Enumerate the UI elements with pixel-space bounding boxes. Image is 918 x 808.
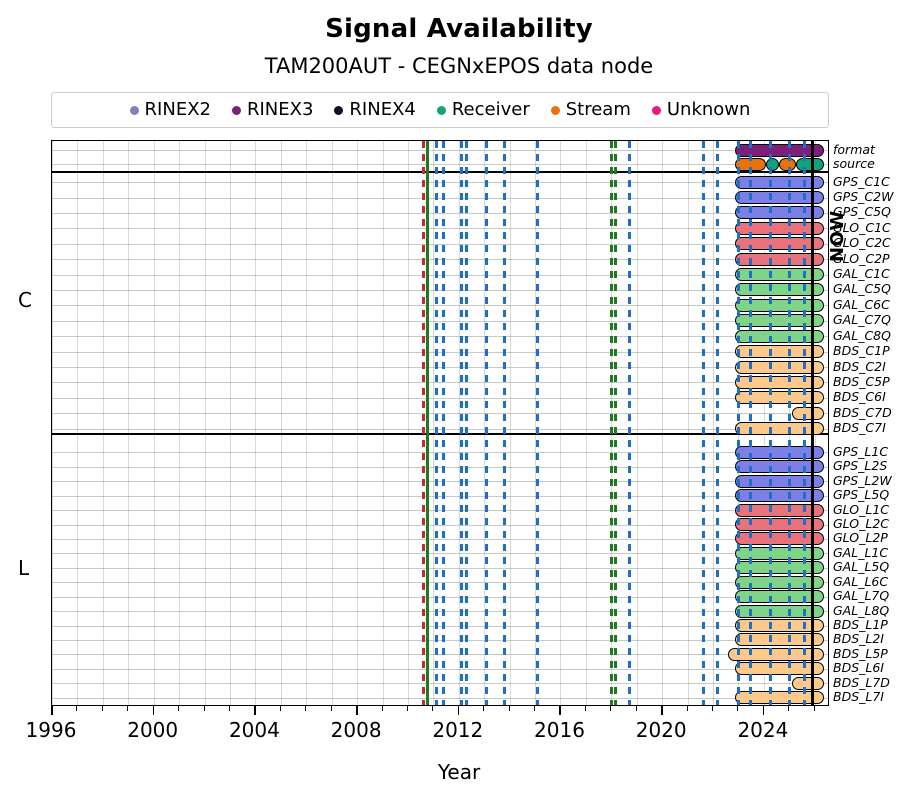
gridline-horizontal xyxy=(52,336,828,337)
now-label: NOW xyxy=(827,210,848,262)
signal-bar-BDS_L7D[interactable] xyxy=(792,677,824,690)
x-tick-label: 2016 xyxy=(534,718,585,742)
gridline-vertical xyxy=(306,141,307,705)
gridline-horizontal xyxy=(52,413,828,414)
event-line xyxy=(614,141,617,705)
legend-label: Unknown xyxy=(667,101,751,119)
legend-item-rinex4[interactable]: RINEX4 xyxy=(334,101,415,119)
gridline-horizontal xyxy=(52,382,828,383)
x-tick-minor xyxy=(178,706,179,711)
legend-marker-icon xyxy=(652,106,661,115)
row-label-source: source xyxy=(833,156,875,171)
x-tick-minor xyxy=(814,706,815,711)
event-line xyxy=(422,141,425,705)
x-tick-minor xyxy=(305,706,306,711)
legend-marker-icon xyxy=(334,106,343,115)
row-label-BDS_C7D: BDS_C7D xyxy=(833,405,892,420)
gridline-horizontal xyxy=(52,367,828,368)
row-label-BDS_L2I: BDS_L2I xyxy=(833,631,884,646)
gridline-vertical xyxy=(560,141,561,705)
x-tick-minor xyxy=(585,706,586,711)
row-label-BDS_C2I: BDS_C2I xyxy=(833,359,886,374)
event-line xyxy=(442,141,445,705)
group-label-C: C xyxy=(18,288,32,312)
gridline-vertical xyxy=(128,141,129,705)
event-line xyxy=(716,141,719,705)
row-label-GAL_L8Q: GAL_L8Q xyxy=(833,603,889,618)
row-label-BDS_C5P: BDS_C5P xyxy=(833,374,890,389)
gridline-vertical xyxy=(332,141,333,705)
gridline-vertical xyxy=(255,141,256,705)
gridline-vertical xyxy=(433,141,434,705)
x-axis-title: Year xyxy=(0,760,918,784)
row-label-GLO_L2C: GLO_L2C xyxy=(833,516,889,531)
x-tick-minor xyxy=(534,706,535,711)
gridline-horizontal xyxy=(52,259,828,260)
gridline-vertical xyxy=(688,141,689,705)
x-tick-minor xyxy=(204,706,205,711)
group-separator xyxy=(52,171,828,173)
timeline-plot-area[interactable] xyxy=(51,140,829,706)
event-line xyxy=(426,141,429,705)
gridline-horizontal xyxy=(52,640,828,641)
event-line xyxy=(485,141,488,705)
page-subtitle: TAM200AUT - CEGNxEPOS data node xyxy=(0,54,918,78)
gridline-vertical xyxy=(281,141,282,705)
gridline-horizontal xyxy=(52,611,828,612)
row-label-GAL_L6C: GAL_L6C xyxy=(833,574,888,589)
gridline-horizontal xyxy=(52,669,828,670)
gridline-horizontal xyxy=(52,553,828,554)
gridline-vertical xyxy=(179,141,180,705)
event-line xyxy=(803,141,806,705)
gridline-horizontal xyxy=(52,321,828,322)
legend-item-unknown[interactable]: Unknown xyxy=(652,101,751,119)
row-label-GAL_L1C: GAL_L1C xyxy=(833,545,888,560)
gridline-vertical xyxy=(408,141,409,705)
gridline-horizontal xyxy=(52,198,828,199)
legend-marker-icon xyxy=(232,106,241,115)
row-label-BDS_L6I: BDS_L6I xyxy=(833,660,884,675)
row-label-BDS_C1P: BDS_C1P xyxy=(833,343,890,358)
legend-marker-icon xyxy=(437,106,446,115)
x-tick-minor xyxy=(127,706,128,711)
gridline-vertical xyxy=(103,141,104,705)
gridline-vertical xyxy=(510,141,511,705)
row-label-GAL_L5Q: GAL_L5Q xyxy=(833,559,889,574)
gridline-horizontal xyxy=(52,496,828,497)
x-tick-label: 2020 xyxy=(636,718,687,742)
x-tick-minor xyxy=(432,706,433,711)
x-tick-minor xyxy=(509,706,510,711)
x-tick-major xyxy=(51,706,53,715)
row-label-BDS_L7I: BDS_L7I xyxy=(833,689,884,704)
event-line xyxy=(628,141,631,705)
x-tick-minor xyxy=(636,706,637,711)
x-tick-minor xyxy=(102,706,103,711)
legend-marker-icon xyxy=(130,106,139,115)
row-label-GLO_L1C: GLO_L1C xyxy=(833,502,889,517)
row-label-GPS_L2S: GPS_L2S xyxy=(833,458,887,473)
x-tick-label: 2024 xyxy=(737,718,788,742)
gridline-horizontal xyxy=(52,228,828,229)
gridline-vertical xyxy=(357,141,358,705)
x-tick-major xyxy=(458,706,460,715)
chart-legend: RINEX2RINEX3RINEX4ReceiverStreamUnknown xyxy=(51,92,829,128)
row-label-GPS_L1C: GPS_L1C xyxy=(833,444,888,459)
gridline-horizontal xyxy=(52,290,828,291)
gridline-horizontal xyxy=(52,481,828,482)
gridline-vertical xyxy=(662,141,663,705)
gridline-horizontal xyxy=(52,429,828,430)
event-line xyxy=(465,141,468,705)
row-label-GAL_C5Q: GAL_C5Q xyxy=(833,281,891,296)
gridline-horizontal xyxy=(52,698,828,699)
x-tick-minor xyxy=(788,706,789,711)
gridline-vertical xyxy=(383,141,384,705)
event-line xyxy=(702,141,705,705)
legend-item-rinex2[interactable]: RINEX2 xyxy=(130,101,211,119)
gridline-horizontal xyxy=(52,467,828,468)
legend-label: RINEX4 xyxy=(349,101,415,119)
x-tick-minor xyxy=(407,706,408,711)
event-line xyxy=(788,141,791,705)
row-label-GAL_C6C: GAL_C6C xyxy=(833,297,890,312)
x-tick-minor xyxy=(229,706,230,711)
gridline-horizontal xyxy=(52,213,828,214)
row-label-GAL_C7Q: GAL_C7Q xyxy=(833,312,891,327)
x-tick-minor xyxy=(382,706,383,711)
signal-bar-BDS_C7D[interactable] xyxy=(792,407,824,420)
x-tick-label: 2000 xyxy=(127,718,178,742)
legend-label: RINEX2 xyxy=(145,101,211,119)
x-tick-minor xyxy=(687,706,688,711)
gridline-vertical xyxy=(205,141,206,705)
signal-bar-BDS_L5P[interactable] xyxy=(728,648,823,661)
row-label-GPS_C2W: GPS_C2W xyxy=(833,189,893,204)
gridline-horizontal xyxy=(52,597,828,598)
row-label-BDS_C6I: BDS_C6I xyxy=(833,389,886,404)
event-line xyxy=(503,141,506,705)
gridline-horizontal xyxy=(52,525,828,526)
x-tick-major xyxy=(254,706,256,715)
gridline-horizontal xyxy=(52,452,828,453)
gridline-horizontal xyxy=(52,683,828,684)
row-label-GAL_L7Q: GAL_L7Q xyxy=(833,588,889,603)
now-line xyxy=(811,141,814,705)
row-label-GAL_C1C: GAL_C1C xyxy=(833,266,890,281)
gridline-horizontal xyxy=(52,568,828,569)
x-tick-minor xyxy=(712,706,713,711)
x-tick-major xyxy=(661,706,663,715)
gridline-horizontal xyxy=(52,510,828,511)
gridline-vertical xyxy=(637,141,638,705)
x-tick-major xyxy=(153,706,155,715)
gridline-horizontal xyxy=(52,164,828,165)
x-tick-minor xyxy=(610,706,611,711)
row-label-format: format xyxy=(833,142,875,157)
row-label-GPS_C1C: GPS_C1C xyxy=(833,174,890,189)
legend-item-rinex3[interactable]: RINEX3 xyxy=(232,101,313,119)
row-label-GAL_C8Q: GAL_C8Q xyxy=(833,328,891,343)
event-line xyxy=(769,141,772,705)
x-tick-label: 1996 xyxy=(26,718,77,742)
gridline-vertical xyxy=(713,141,714,705)
legend-item-receiver[interactable]: Receiver xyxy=(437,101,530,119)
x-tick-label: 2012 xyxy=(432,718,483,742)
x-tick-major xyxy=(763,706,765,715)
gridline-vertical xyxy=(77,141,78,705)
x-tick-label: 2008 xyxy=(331,718,382,742)
gridline-horizontal xyxy=(52,582,828,583)
legend-marker-icon xyxy=(551,106,560,115)
x-tick-minor xyxy=(737,706,738,711)
event-line xyxy=(737,141,740,705)
event-line xyxy=(435,141,438,705)
gridline-horizontal xyxy=(52,275,828,276)
gridline-horizontal xyxy=(52,150,828,151)
gridline-horizontal xyxy=(52,654,828,655)
x-tick-minor xyxy=(280,706,281,711)
x-tick-minor xyxy=(331,706,332,711)
gridline-horizontal xyxy=(52,244,828,245)
row-label-GPS_L5Q: GPS_L5Q xyxy=(833,487,889,502)
group-label-L: L xyxy=(18,556,29,580)
gridline-vertical xyxy=(154,141,155,705)
gridline-horizontal xyxy=(52,182,828,183)
gridline-vertical xyxy=(230,141,231,705)
x-tick-major xyxy=(356,706,358,715)
group-separator xyxy=(52,433,828,435)
event-line xyxy=(749,141,752,705)
legend-label: Stream xyxy=(566,101,631,119)
meta-bar-source-receiver[interactable] xyxy=(796,158,824,171)
row-label-BDS_C7I: BDS_C7I xyxy=(833,420,886,435)
gridline-horizontal xyxy=(52,539,828,540)
event-line xyxy=(536,141,539,705)
event-line xyxy=(610,141,613,705)
x-tick-minor xyxy=(483,706,484,711)
row-label-GPS_L2W: GPS_L2W xyxy=(833,473,892,488)
legend-label: RINEX3 xyxy=(247,101,313,119)
legend-label: Receiver xyxy=(452,101,530,119)
x-tick-label: 2004 xyxy=(229,718,280,742)
gridline-horizontal xyxy=(52,626,828,627)
gridline-horizontal xyxy=(52,398,828,399)
gridline-horizontal xyxy=(52,305,828,306)
x-tick-minor xyxy=(76,706,77,711)
gridline-horizontal xyxy=(52,352,828,353)
row-label-BDS_L1P: BDS_L1P xyxy=(833,617,888,632)
page-title: Signal Availability xyxy=(0,14,918,44)
row-label-GLO_L2P: GLO_L2P xyxy=(833,530,888,545)
legend-item-stream[interactable]: Stream xyxy=(551,101,631,119)
row-label-BDS_L5P: BDS_L5P xyxy=(833,646,888,661)
gridline-vertical xyxy=(52,141,53,705)
x-tick-major xyxy=(559,706,561,715)
event-line xyxy=(460,141,463,705)
row-label-BDS_L7D: BDS_L7D xyxy=(833,675,890,690)
gridline-vertical xyxy=(586,141,587,705)
